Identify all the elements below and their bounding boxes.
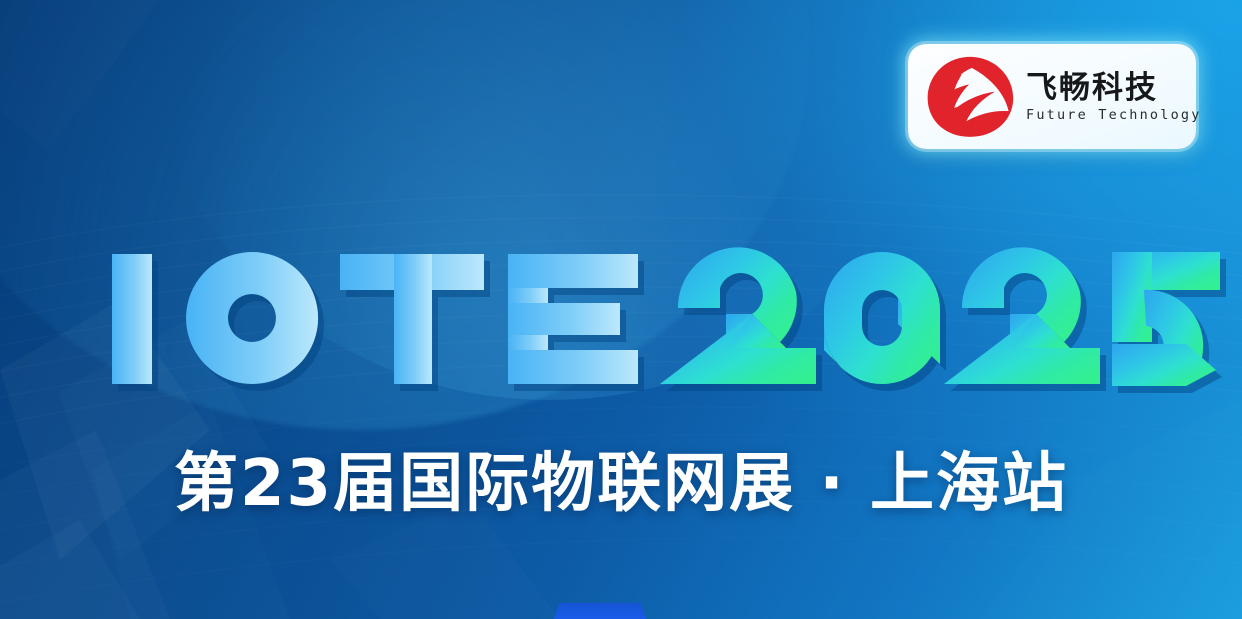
sponsor-name-cn: 飞畅科技 xyxy=(1026,72,1202,105)
iote-2025-banner: 飞畅科技 Future Technology 第23届国际物联网展 · 上海站 xyxy=(0,0,1242,619)
sponsor-name-en: Future Technology xyxy=(1026,107,1202,123)
iote-2025-wordmark xyxy=(112,244,1092,394)
sponsor-logo-badge: 飞畅科技 Future Technology xyxy=(908,44,1196,149)
bottom-accent-tab xyxy=(554,603,646,619)
feichang-logo-icon xyxy=(924,55,1016,139)
banner-subtitle: 第23届国际物联网展 · 上海站 xyxy=(0,452,1242,516)
sponsor-text-block: 飞畅科技 Future Technology xyxy=(1026,70,1202,124)
wordmark-letters xyxy=(112,252,638,384)
wordmark-digits xyxy=(660,194,1220,386)
